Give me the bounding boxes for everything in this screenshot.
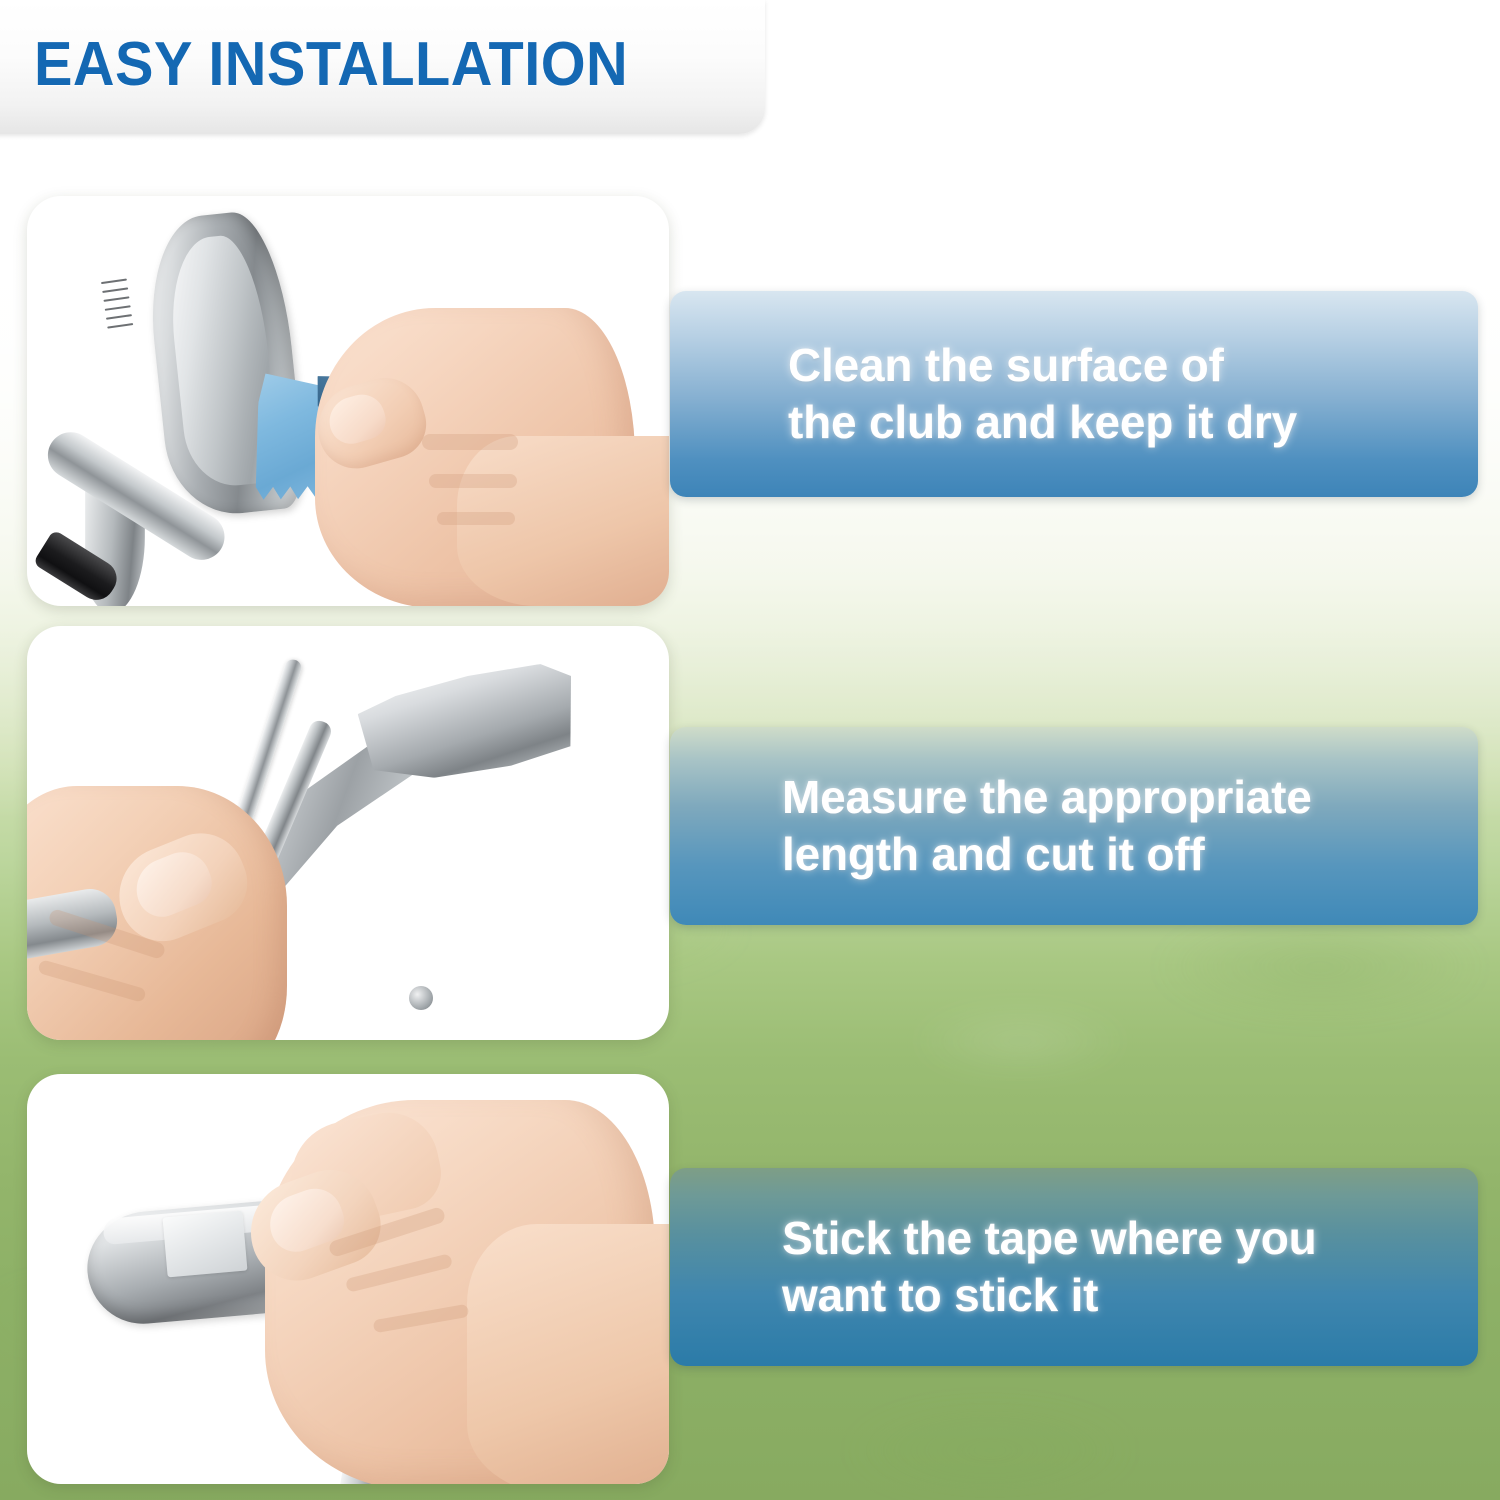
caption-step-3-text: Stick the tape where you want to stick i…: [782, 1210, 1317, 1324]
infographic-stage: EASY INSTALLATION Clean the surface of: [0, 0, 1500, 1500]
wrist-icon: [467, 1224, 669, 1484]
photo-1-scene: [27, 196, 669, 606]
caption-step-2: Measure the appropriate length and cut i…: [670, 727, 1478, 925]
caption-step-1: Clean the surface of the club and keep i…: [670, 291, 1478, 497]
scissors-pivot-icon: [409, 986, 433, 1010]
knuckle-crease-icon: [429, 474, 517, 488]
header-ribbon: EASY INSTALLATION: [0, 0, 765, 134]
photo-2-scene: [27, 626, 669, 1040]
page-title: EASY INSTALLATION: [34, 34, 628, 96]
knuckle-crease-icon: [437, 512, 515, 525]
applied-tape-icon: [163, 1211, 248, 1278]
photo-cut-tape-with-scissors: [27, 626, 669, 1040]
photo-stick-tape-on-club: [27, 1074, 669, 1484]
caption-step-2-text: Measure the appropriate length and cut i…: [782, 769, 1312, 883]
photo-clean-club-with-cloth: [27, 196, 669, 606]
caption-step-3: Stick the tape where you want to stick i…: [670, 1168, 1478, 1366]
knuckle-crease-icon: [422, 434, 518, 450]
club-grooves-icon: [101, 278, 135, 341]
photo-3-scene: [27, 1074, 669, 1484]
caption-step-1-text: Clean the surface of the club and keep i…: [788, 337, 1297, 451]
